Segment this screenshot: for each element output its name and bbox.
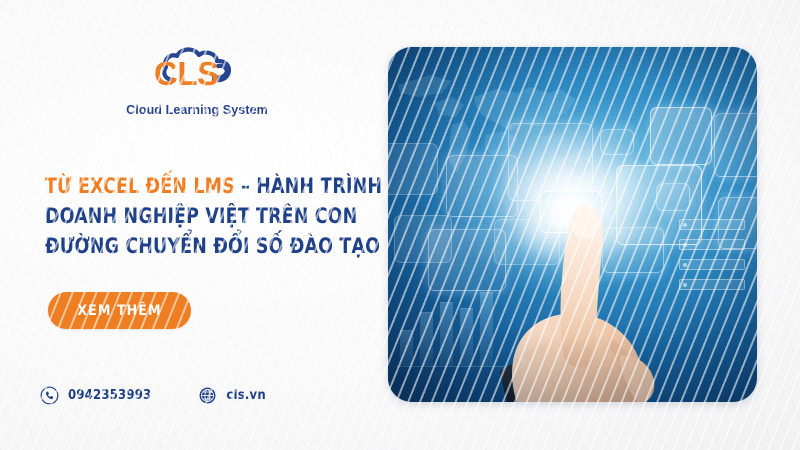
contact-bar: 0942353993 cls.vn: [40, 386, 266, 405]
brand-tagline: Cloud Learning System: [112, 103, 282, 117]
read-more-button[interactable]: XEM THÊM: [48, 292, 191, 329]
globe-icon: [198, 386, 217, 405]
headline-line-2: DOANH NGHIỆP VIỆT TRÊN CON: [45, 202, 342, 232]
hero-image: [388, 47, 757, 402]
hero-tile: [714, 113, 757, 177]
headline-line-1: TỪ EXCEL ĐẾN LMS – HÀNH TRÌNH: [45, 172, 342, 202]
contact-phone-value: 0942353993: [68, 388, 151, 403]
content-column: CLS Cloud Learning System TỪ EXCEL ĐẾN L…: [0, 0, 385, 450]
cls-logo-mark: CLS: [132, 40, 262, 100]
promo-banner: CLS Cloud Learning System TỪ EXCEL ĐẾN L…: [0, 0, 800, 450]
contact-phone[interactable]: 0942353993: [40, 386, 151, 405]
headline-accent: TỪ EXCEL ĐẾN LMS: [45, 174, 235, 199]
brand-logo[interactable]: CLS Cloud Learning System: [112, 40, 282, 117]
hero-tile: [650, 107, 712, 165]
phone-icon: [40, 386, 59, 405]
contact-website[interactable]: cls.vn: [198, 386, 266, 405]
headline-line-3: ĐƯỜNG CHUYỂN ĐỔI SỐ ĐÀO TẠO: [45, 232, 342, 262]
contact-website-value: cls.vn: [226, 388, 266, 403]
cloud-icon: CLS: [132, 40, 262, 100]
headline: TỪ EXCEL ĐẾN LMS – HÀNH TRÌNH DOANH NGHI…: [45, 172, 342, 262]
hero-tile: [388, 143, 438, 195]
hero-tile: [600, 129, 634, 155]
pointing-hand-icon: [484, 158, 699, 402]
headline-line-1-rest: – HÀNH TRÌNH: [235, 174, 382, 199]
svg-text:CLS: CLS: [154, 55, 219, 92]
